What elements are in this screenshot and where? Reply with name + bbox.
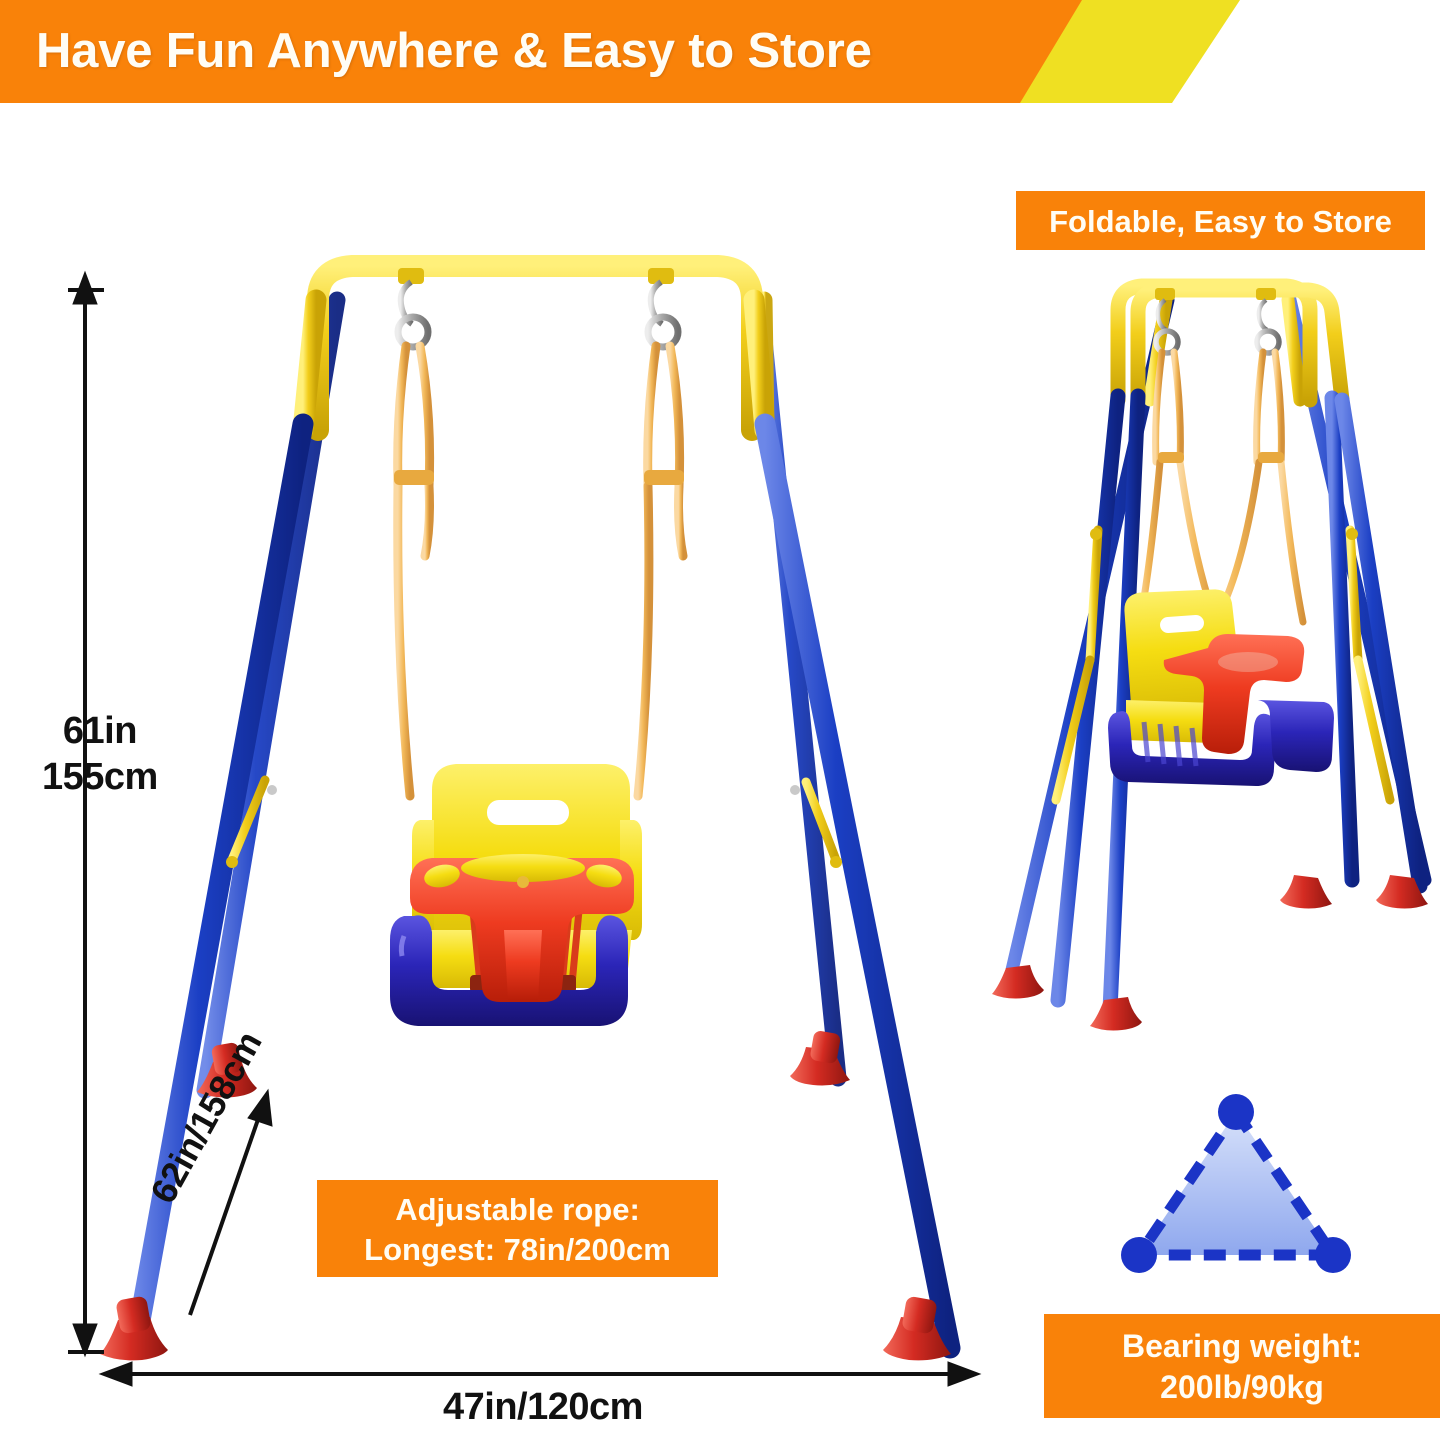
bearing-callout-line1: Bearing weight: [1044,1326,1440,1367]
hanger-hardware-right [648,268,678,347]
foot-cap [1280,875,1332,909]
page-title: Have Fun Anywhere & Easy to Store [36,23,872,79]
width-dimension-label: 47in/120cm [443,1386,643,1429]
height-dimension-inches: 61in [42,708,158,754]
bearing-weight-callout: Bearing weight: 200lb/90kg [1044,1314,1440,1418]
height-dimension-cm: 155cm [42,754,158,800]
swing-seat [390,764,642,1026]
bearing-weight-triangle-icon [1121,1094,1351,1273]
rope-adjuster-left [394,470,434,485]
foldable-badge-label: Foldable, Easy to Store [1016,202,1425,242]
rope-callout-line2: Longest: 78in/200cm [317,1230,718,1270]
swing-rope-right [638,346,683,796]
foldable-badge: Foldable, Easy to Store [1016,191,1425,250]
foot-cap [100,1295,168,1360]
bearing-callout-line2: 200lb/90kg [1044,1367,1440,1408]
foot-cap [992,965,1044,999]
swing-rope-left [398,346,430,796]
header-banner: Have Fun Anywhere & Easy to Store [0,0,1445,103]
foot-cap [1090,997,1142,1031]
adjustable-rope-callout: Adjustable rope: Longest: 78in/200cm [317,1180,718,1277]
folded-swing-set [992,286,1428,1031]
rope-callout-line1: Adjustable rope: [317,1190,718,1230]
infographic-page: Have Fun Anywhere & Easy to Store Foldab… [0,0,1445,1437]
height-dimension-label: 61in 155cm [42,708,158,801]
hanger-hardware-left [398,268,428,347]
rope-adjuster-right [644,470,684,485]
